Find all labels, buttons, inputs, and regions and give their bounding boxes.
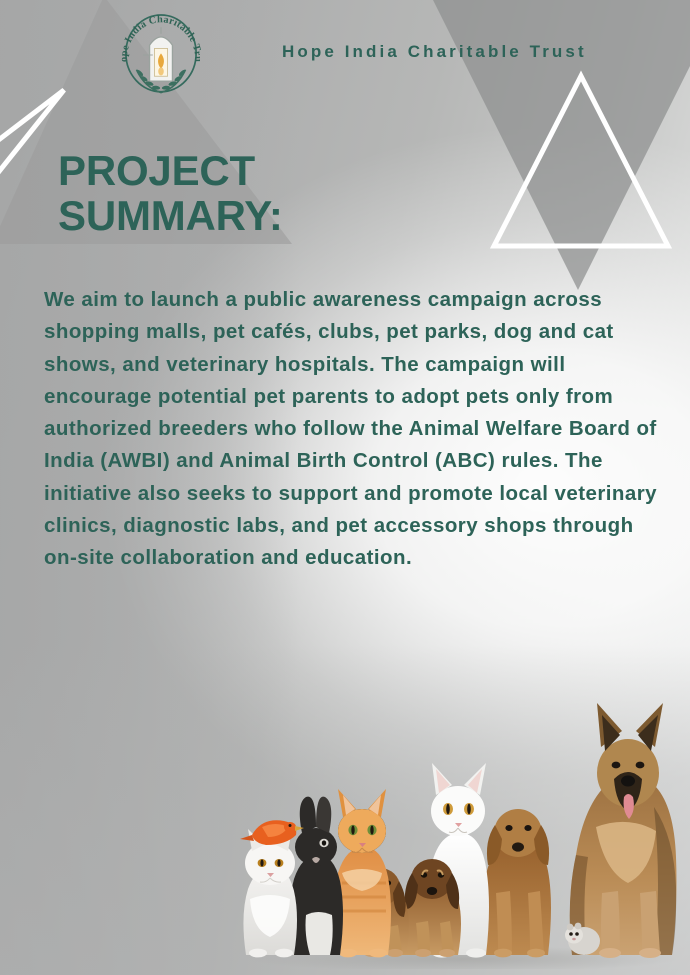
project-summary-text: We aim to launch a public awareness camp… bbox=[44, 284, 658, 575]
dachshund-puppy-center bbox=[403, 859, 461, 957]
brown-dachshund bbox=[482, 809, 551, 957]
group-of-pets-photo bbox=[236, 687, 688, 969]
project-summary-poster: Hope India Charitable Trust bbox=[0, 0, 690, 975]
page-title-line-1: PROJECT bbox=[58, 148, 578, 193]
hope-india-trust-seal-icon: Hope India Charitable Trust bbox=[112, 6, 210, 104]
brand-title: Hope India Charitable Trust bbox=[282, 42, 587, 62]
black-and-white-rabbit bbox=[289, 797, 343, 955]
german-shepherd-dog bbox=[570, 703, 677, 958]
page-title-line-2: SUMMARY: bbox=[58, 193, 578, 238]
white-persian-kitten bbox=[243, 829, 297, 957]
page-title: PROJECT SUMMARY: bbox=[58, 148, 578, 238]
poster-header: Hope India Charitable Trust bbox=[0, 0, 690, 112]
